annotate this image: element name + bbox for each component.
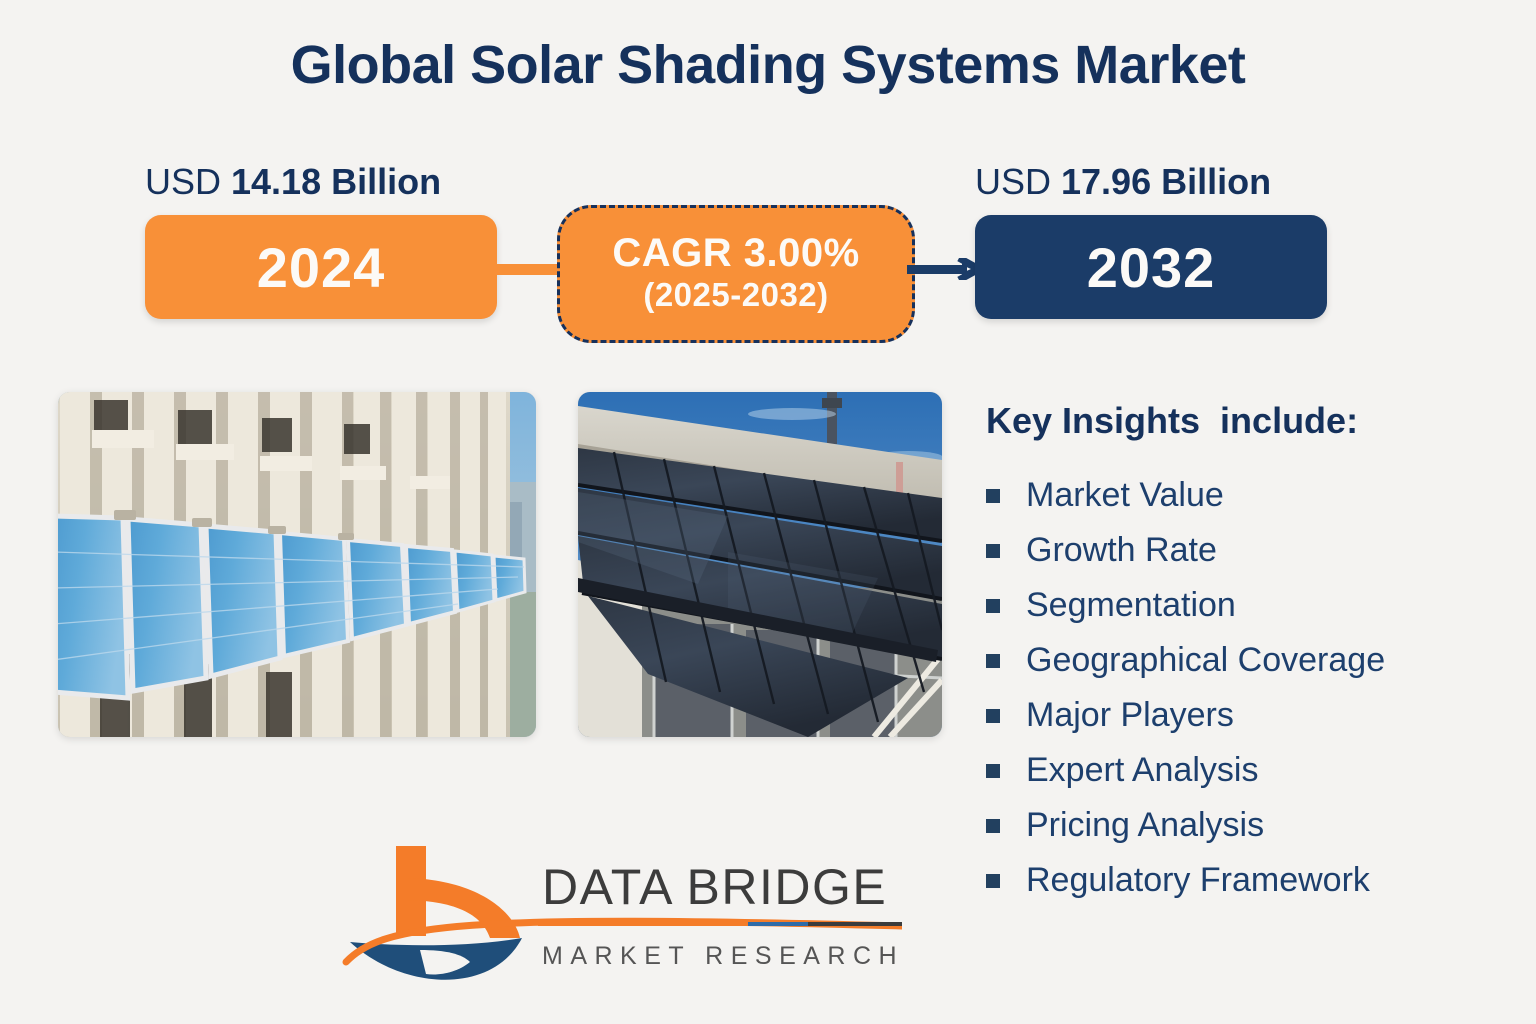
image-solar-shading-facade xyxy=(58,392,536,737)
base-year-currency-label: USD xyxy=(145,161,231,202)
page-title: Global Solar Shading Systems Market xyxy=(0,34,1536,96)
bullet-square-icon xyxy=(986,764,1000,778)
cagr-value: CAGR 3.00% xyxy=(612,232,859,274)
list-item: Growth Rate xyxy=(986,523,1385,578)
bullet-square-icon xyxy=(986,599,1000,613)
forecast-year-label: 2032 xyxy=(1087,235,1216,300)
list-item: Expert Analysis xyxy=(986,743,1385,798)
bullet-square-icon xyxy=(986,544,1000,558)
bullet-square-icon xyxy=(986,654,1000,668)
connector-line-left xyxy=(486,264,564,275)
list-item: Market Value xyxy=(986,468,1385,523)
forecast-year-box: 2032 xyxy=(975,215,1327,319)
bullet-square-icon xyxy=(986,489,1000,503)
bullet-square-icon xyxy=(986,709,1000,723)
list-item-label: Major Players xyxy=(1026,696,1234,735)
list-item-label: Geographical Coverage xyxy=(1026,641,1385,680)
list-item: Segmentation xyxy=(986,578,1385,633)
list-item: Pricing Analysis xyxy=(986,798,1385,853)
cagr-period: (2025-2032) xyxy=(643,274,828,315)
list-item-label: Segmentation xyxy=(1026,586,1236,625)
key-insights-list: Market Value Growth Rate Segmentation Ge… xyxy=(986,468,1385,908)
forecast-year-value-caption: USD 17.96 Billion xyxy=(975,161,1271,203)
list-item-label: Pricing Analysis xyxy=(1026,806,1264,845)
list-item: Regulatory Framework xyxy=(986,853,1385,908)
list-item-label: Regulatory Framework xyxy=(1026,861,1370,900)
list-item-label: Growth Rate xyxy=(1026,531,1217,570)
key-insights-heading: Key Insights include: xyxy=(986,400,1358,442)
infographic-page: Global Solar Shading Systems Market USD … xyxy=(0,0,1536,1024)
list-item: Major Players xyxy=(986,688,1385,743)
forecast-year-amount: 17.96 Billion xyxy=(1061,161,1271,202)
base-year-amount: 14.18 Billion xyxy=(231,161,441,202)
logo-primary-text: DATA BRIDGE xyxy=(542,859,887,915)
forecast-year-currency-label: USD xyxy=(975,161,1061,202)
base-year-value-caption: USD 14.18 Billion xyxy=(145,161,441,203)
list-item-label: Market Value xyxy=(1026,476,1224,515)
image-solar-canopy xyxy=(578,392,942,737)
list-item: Geographical Coverage xyxy=(986,633,1385,688)
bullet-square-icon xyxy=(986,819,1000,833)
base-year-label: 2024 xyxy=(257,235,386,300)
logo-secondary-text: MARKET RESEARCH xyxy=(542,942,902,970)
company-logo: DATA BRIDGE MARKET RESEARCH xyxy=(342,838,902,993)
base-year-box: 2024 xyxy=(145,215,497,319)
list-item-label: Expert Analysis xyxy=(1026,751,1258,790)
bullet-square-icon xyxy=(986,874,1000,888)
cagr-box: CAGR 3.00% (2025-2032) xyxy=(557,205,915,343)
